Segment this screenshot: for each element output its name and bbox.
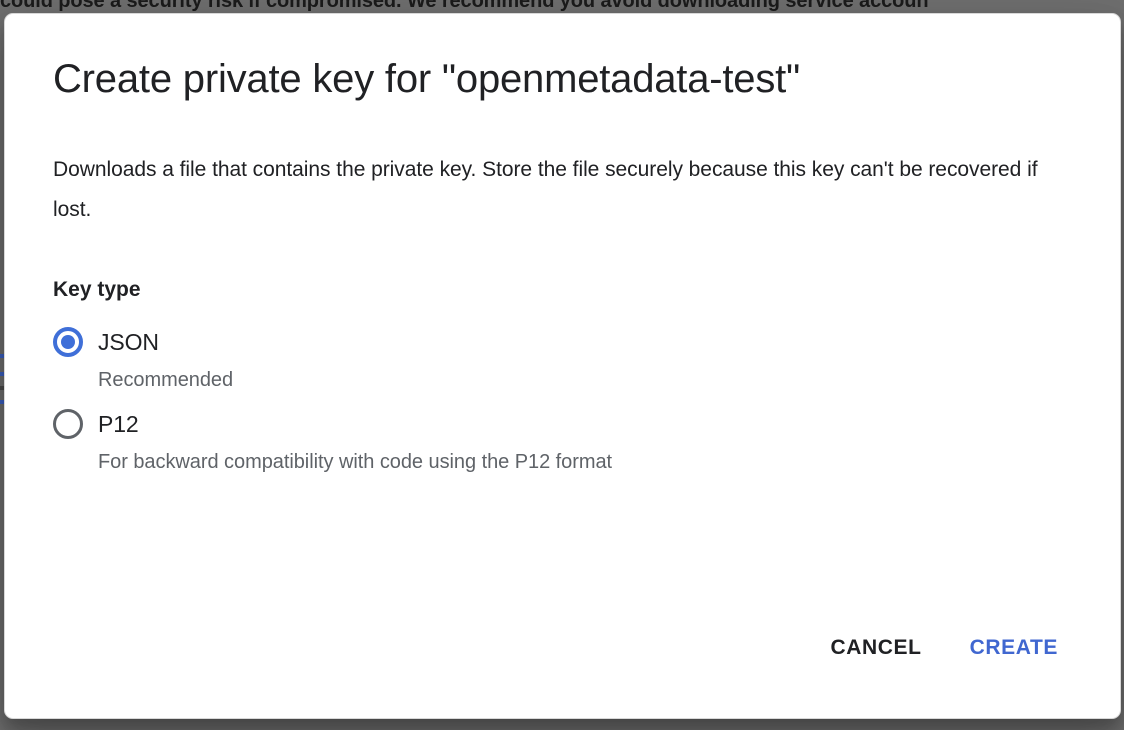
radio-selected-icon[interactable] [53,327,83,357]
radio-option-json-sublabel: Recommended [98,367,1072,393]
radio-option-json[interactable]: JSON [53,322,1072,362]
radio-option-p12[interactable]: P12 [53,404,1072,444]
dialog-action-bar: CANCEL CREATE [5,624,1120,718]
radio-option-json-label: JSON [98,329,159,355]
radio-unselected-icon[interactable] [53,409,83,439]
dialog-description: Downloads a file that contains the priva… [53,150,1043,230]
create-private-key-dialog: Create private key for "openmetadata-tes… [4,13,1121,719]
radio-option-p12-label: P12 [98,411,139,437]
radio-option-p12-sublabel: For backward compatibility with code usi… [98,449,1072,475]
key-type-section-label: Key type [53,278,1072,302]
dialog-title: Create private key for "openmetadata-tes… [53,55,1072,103]
key-type-radio-group: JSON Recommended P12 For backward compat… [53,322,1072,475]
cancel-button[interactable]: CANCEL [813,624,940,672]
create-button[interactable]: CREATE [952,624,1076,672]
dialog-content: Create private key for "openmetadata-tes… [5,14,1120,624]
backdrop-cutoff-text: could pose a security risk if compromise… [0,0,1124,11]
